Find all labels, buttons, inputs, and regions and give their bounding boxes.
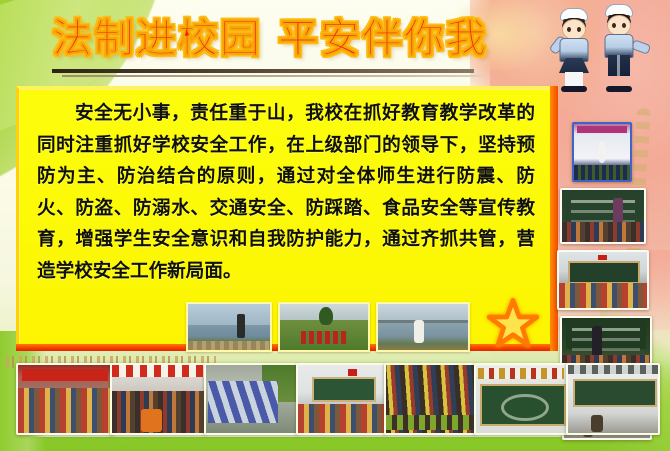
students-audience (298, 404, 384, 433)
eye-right (622, 23, 626, 28)
sky (188, 304, 270, 325)
red-flag (348, 369, 357, 376)
shoes (606, 86, 632, 92)
shoes (561, 86, 587, 92)
poster-body-text: 安全无小事，责任重于山，我校在抓好教育教学改革的同时注重抓好学校安全工作，在上级… (37, 98, 535, 287)
eye-left (567, 27, 571, 32)
chalkboard (566, 322, 647, 349)
photo-lakeside-student-2 (376, 302, 470, 352)
photo-blackboard-newspaper (474, 363, 568, 435)
photo-classroom-green-board (296, 363, 386, 435)
student-figure (591, 415, 603, 431)
poster-title-area: 法制进校园 平安伴你我 (0, 6, 540, 64)
safety-education-poster: 法制进校园 平安伴你我 (0, 0, 670, 451)
student-figure (414, 320, 424, 343)
female-police-officer (552, 6, 596, 92)
photo-classroom-wide (566, 363, 660, 435)
legs (565, 72, 583, 86)
orange-jacket-student (141, 409, 161, 432)
photo-classroom-lecture-1 (560, 188, 646, 244)
photo-field-banner (278, 302, 370, 352)
eye-right (577, 27, 581, 32)
chalk-drawing (501, 394, 548, 421)
uniform-trousers (608, 55, 630, 76)
page-title: 法制进校园 平安伴你我 (0, 6, 540, 64)
decor-top-row (478, 368, 564, 379)
panel-right-orange-bar (550, 86, 558, 351)
student-queue (208, 381, 278, 423)
chalkboard (565, 194, 640, 221)
audience (574, 165, 630, 180)
crowd (18, 388, 112, 433)
photo-classroom-lecture-2 (557, 250, 649, 310)
red-banner (22, 369, 108, 381)
photo-students-gathering (110, 363, 206, 435)
face (607, 15, 631, 36)
photo-assembly-stage (572, 122, 632, 182)
red-banner (301, 331, 347, 345)
cartoon-police-pair (552, 4, 646, 92)
speaker-figure (599, 141, 606, 163)
student-figure (237, 314, 244, 338)
red-flag (598, 255, 607, 260)
title-underline-rule (52, 69, 474, 73)
teacher-figure (592, 326, 602, 357)
photo-fire-drill-line (204, 363, 298, 435)
five-point-star (487, 298, 539, 348)
students-audience (559, 283, 647, 308)
eye-left (612, 23, 616, 28)
students-audience (562, 222, 644, 242)
ceiling-lights (568, 365, 658, 374)
tree (319, 307, 333, 325)
banner-text-strip (577, 126, 626, 133)
chalkboard (312, 377, 376, 401)
chalkboard (568, 261, 641, 284)
chalk-writing (572, 328, 640, 331)
chalkboard (573, 379, 656, 407)
photo-outdoor-assembly-red-banner (16, 363, 114, 435)
chalk-writing (571, 200, 634, 203)
face (562, 19, 586, 40)
photo-lakeside-student-1 (186, 302, 272, 352)
photo-crowd-yellow-caps (384, 363, 476, 435)
green-caps-row (386, 415, 474, 430)
decorative-flag-banner (112, 365, 204, 377)
shore-rocks (188, 341, 270, 350)
blackboard-newspaper (480, 384, 567, 426)
male-police-officer (596, 4, 642, 92)
title-underline-rule-secondary (62, 75, 484, 77)
